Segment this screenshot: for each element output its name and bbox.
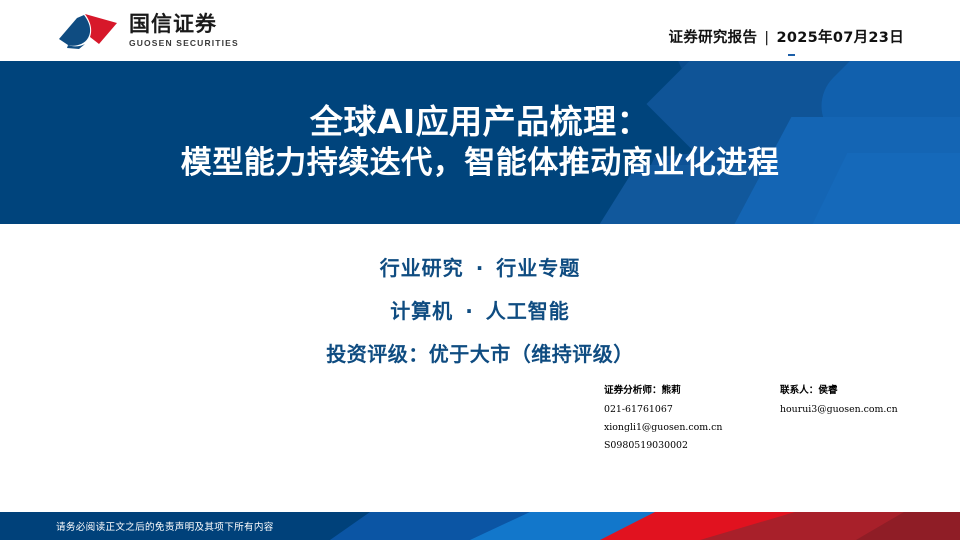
page-header: 国信证券 GUOSEN SECURITIES 证券研究报告|2025年07月23… xyxy=(0,0,960,61)
analyst-column: 证券分析师：熊莉 021-61761067 xiongli1@guosen.co… xyxy=(604,386,780,460)
brand-logo-text: 国信证券 GUOSEN SECURITIES xyxy=(129,14,239,48)
footer-disclaimer: 请务必阅读正文之后的免责声明及其项下所有内容 xyxy=(56,512,274,540)
analyst-phone: 021-61761067 xyxy=(604,405,780,414)
page-title: 全球AI应用产品梳理： 模型能力持续迭代，智能体推动商业化进程 xyxy=(0,61,960,224)
industry-topic-label: 行业专题 xyxy=(496,256,580,280)
analyst-license-number: S0980519030002 xyxy=(604,441,780,450)
contact-block: 证券分析师：熊莉 021-61761067 xiongli1@guosen.co… xyxy=(604,386,960,460)
report-date: 2025年07月23日 xyxy=(776,30,904,46)
report-classification: 行业研究·行业专题 计算机·人工智能 投资评级：优于大市（维持评级） xyxy=(0,224,960,367)
analyst-email[interactable]: xiongli1@guosen.com.cn xyxy=(604,423,780,432)
report-type-label: 证券研究报告 xyxy=(668,30,757,46)
title-banner: 全球AI应用产品梳理： 模型能力持续迭代，智能体推动商业化进程 xyxy=(0,61,960,224)
page-title-line-1: 全球AI应用产品梳理： xyxy=(310,101,650,143)
investment-rating: 投资评级：优于大市（维持评级） xyxy=(326,338,634,367)
guosen-diamond-logo-icon xyxy=(55,11,121,51)
dot-separator-icon: · xyxy=(476,256,485,280)
header-accent-tick-icon xyxy=(788,54,795,56)
header-separator: | xyxy=(764,30,769,46)
report-cover-page: 国信证券 GUOSEN SECURITIES 证券研究报告|2025年07月23… xyxy=(0,0,960,540)
industry-research-label: 行业研究 xyxy=(380,256,464,280)
page-footer: 请务必阅读正文之后的免责声明及其项下所有内容 xyxy=(0,512,960,540)
brand-logo: 国信证券 GUOSEN SECURITIES xyxy=(55,11,239,51)
subsector-label: 人工智能 xyxy=(486,299,570,323)
page-title-line-2: 模型能力持续迭代，智能体推动商业化进程 xyxy=(181,143,780,183)
analyst-name: 证券分析师：熊莉 xyxy=(604,386,780,396)
sector-label: 计算机 xyxy=(390,299,453,323)
classification-line-sector: 计算机·人工智能 xyxy=(390,295,570,324)
associate-email[interactable]: hourui3@guosen.com.cn xyxy=(780,405,960,414)
associate-column: 联系人：侯睿 hourui3@guosen.com.cn xyxy=(780,386,960,460)
classification-line-industry: 行业研究·行业专题 xyxy=(380,252,581,281)
header-report-meta: 证券研究报告|2025年07月23日 xyxy=(668,26,904,47)
brand-name-en: GUOSEN SECURITIES xyxy=(129,39,239,48)
dot-separator-icon-2: · xyxy=(465,299,474,323)
brand-name-cn: 国信证券 xyxy=(129,14,239,35)
associate-name: 联系人：侯睿 xyxy=(780,386,960,396)
